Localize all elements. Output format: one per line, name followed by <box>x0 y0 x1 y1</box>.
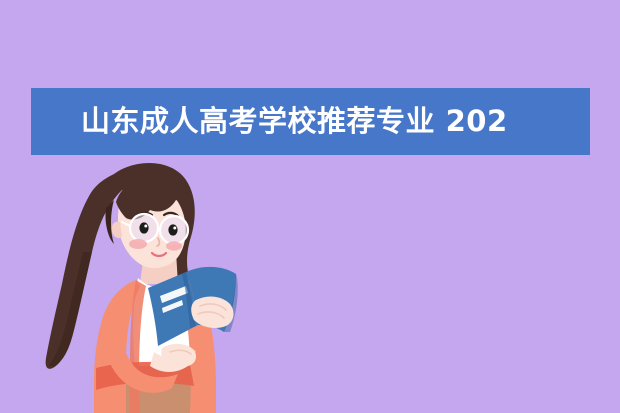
screenshot-canvas: 山东成人高考学校推荐专业 202 <box>0 0 620 413</box>
blush-right <box>166 241 182 250</box>
page-title: 山东成人高考学校推荐专业 202 <box>81 107 508 136</box>
eye-right <box>168 224 177 235</box>
woman-reading-book-illustration <box>40 160 250 413</box>
eye-left <box>139 222 148 233</box>
blush-left <box>129 239 147 249</box>
title-banner: 山东成人高考学校推荐专业 202 <box>31 88 590 155</box>
